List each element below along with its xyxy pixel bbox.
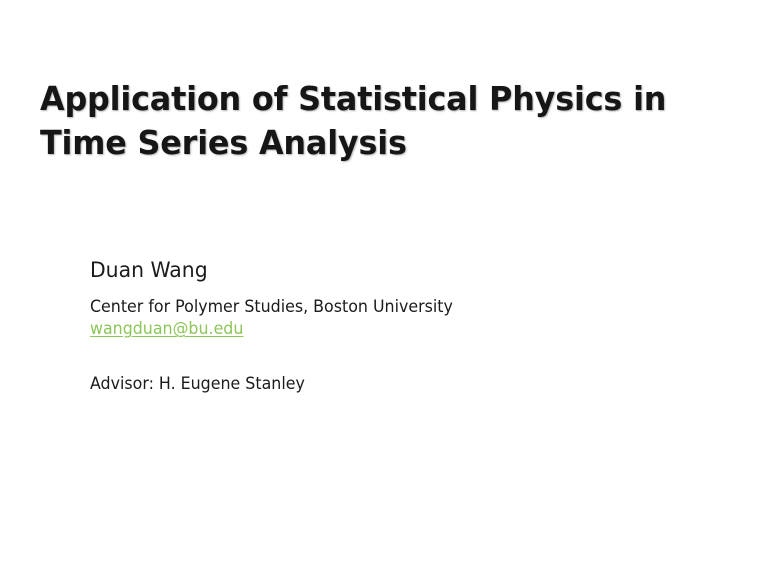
author-name: Duan Wang [90, 256, 633, 284]
page-title: Application of Statistical Physics in Ti… [40, 77, 706, 165]
title-slide: Application of Statistical Physics in Ti… [0, 0, 768, 576]
affiliation-text: Center for Polymer Studies, Boston Unive… [90, 296, 628, 318]
presenter-info-block: Duan Wang Center for Polymer Studies, Bo… [90, 256, 650, 395]
email-link[interactable]: wangduan@bu.edu [90, 318, 243, 340]
advisor-text: Advisor: H. Eugene Stanley [90, 373, 628, 395]
affiliation-paragraph: Center for Polymer Studies, Boston Unive… [90, 296, 628, 340]
